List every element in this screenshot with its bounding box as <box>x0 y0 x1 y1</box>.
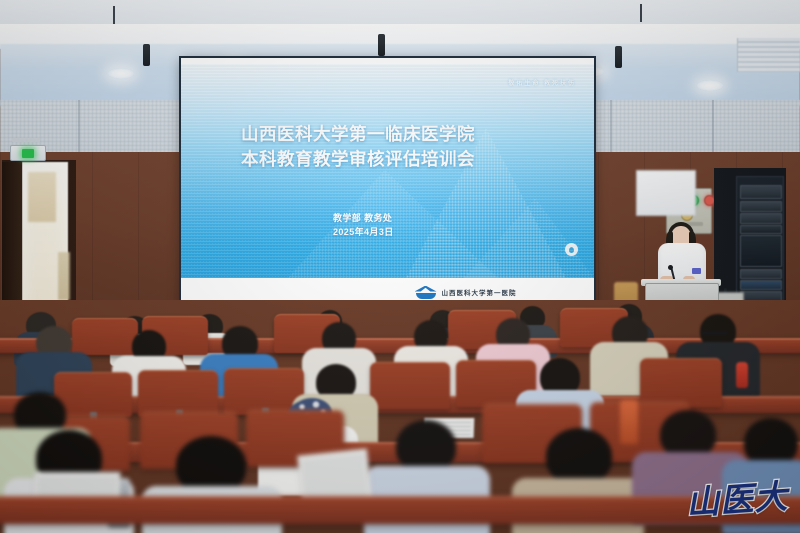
rack-patch-panel <box>740 235 782 267</box>
wall-whiteboard <box>636 170 696 216</box>
seat-back[interactable] <box>370 362 450 409</box>
audience-seating <box>0 300 800 533</box>
slide-department: 教学部 教务处 <box>333 212 394 226</box>
downlight-icon <box>108 68 134 79</box>
slide-subtitle: 教学部 教务处 2025年4月3日 <box>333 212 394 240</box>
projection-screen: 敬佑生命 救死扶伤 山西医科大学第一临床医学院 本科教育教学审核评估培训会 教学… <box>181 58 594 306</box>
watermark: 山医大 <box>684 470 789 525</box>
rack-unit <box>740 201 782 212</box>
audience-head <box>546 428 612 484</box>
ceiling-speaker-icon <box>143 44 150 66</box>
water-bottle <box>736 362 748 388</box>
rack-unit <box>740 269 782 279</box>
desk-row <box>0 496 800 524</box>
exit-sign-mount <box>12 138 40 142</box>
exit-icon <box>22 149 34 158</box>
seat-back[interactable] <box>72 318 138 355</box>
rack-unit <box>740 225 782 234</box>
speaker-id-badge <box>692 268 701 274</box>
lecture-hall-photo: 敬佑生命 救死扶伤 山西医科大学第一临床医学院 本科教育教学审核评估培训会 教学… <box>0 0 800 533</box>
audience-head <box>744 418 798 466</box>
water-bottle <box>620 400 638 444</box>
slide-canvas: 敬佑生命 救死扶伤 山西医科大学第一临床医学院 本科教育教学审核评估培训会 教学… <box>181 64 594 278</box>
ceiling-speaker-icon <box>378 34 385 56</box>
rack-unit <box>740 185 782 199</box>
rack-unit <box>740 213 782 224</box>
ceiling-rod <box>113 6 115 24</box>
slide-title-line-2: 本科教育教学审核评估培训会 <box>241 147 571 172</box>
slide-title: 山西医科大学第一临床医学院 本科教育教学审核评估培训会 <box>241 122 571 172</box>
hospital-logo-text: 山西医科大学第一医院 <box>442 287 517 297</box>
air-vent-icon <box>737 38 800 72</box>
ceiling-speaker-icon <box>615 46 622 68</box>
door-leaf[interactable] <box>2 162 22 322</box>
slide-date: 2025年4月3日 <box>333 226 394 240</box>
audience-head <box>396 420 456 472</box>
glasses-icon <box>702 332 728 340</box>
ceiling-rod <box>640 4 642 22</box>
microphone-icon <box>668 265 673 270</box>
slide-title-line-1: 山西医科大学第一临床医学院 <box>241 122 571 147</box>
rack-unit <box>740 280 782 290</box>
corridor-poster <box>58 252 70 300</box>
hospital-logo-icon <box>415 286 437 299</box>
slide-motto: 敬佑生命 救死扶伤 <box>508 78 576 87</box>
seat-back[interactable] <box>640 358 722 407</box>
corridor-poster <box>28 172 56 222</box>
exit-sign <box>10 145 46 161</box>
slide-badge-icon <box>565 243 578 256</box>
downlight-icon <box>697 80 723 91</box>
audience-head <box>660 410 716 458</box>
